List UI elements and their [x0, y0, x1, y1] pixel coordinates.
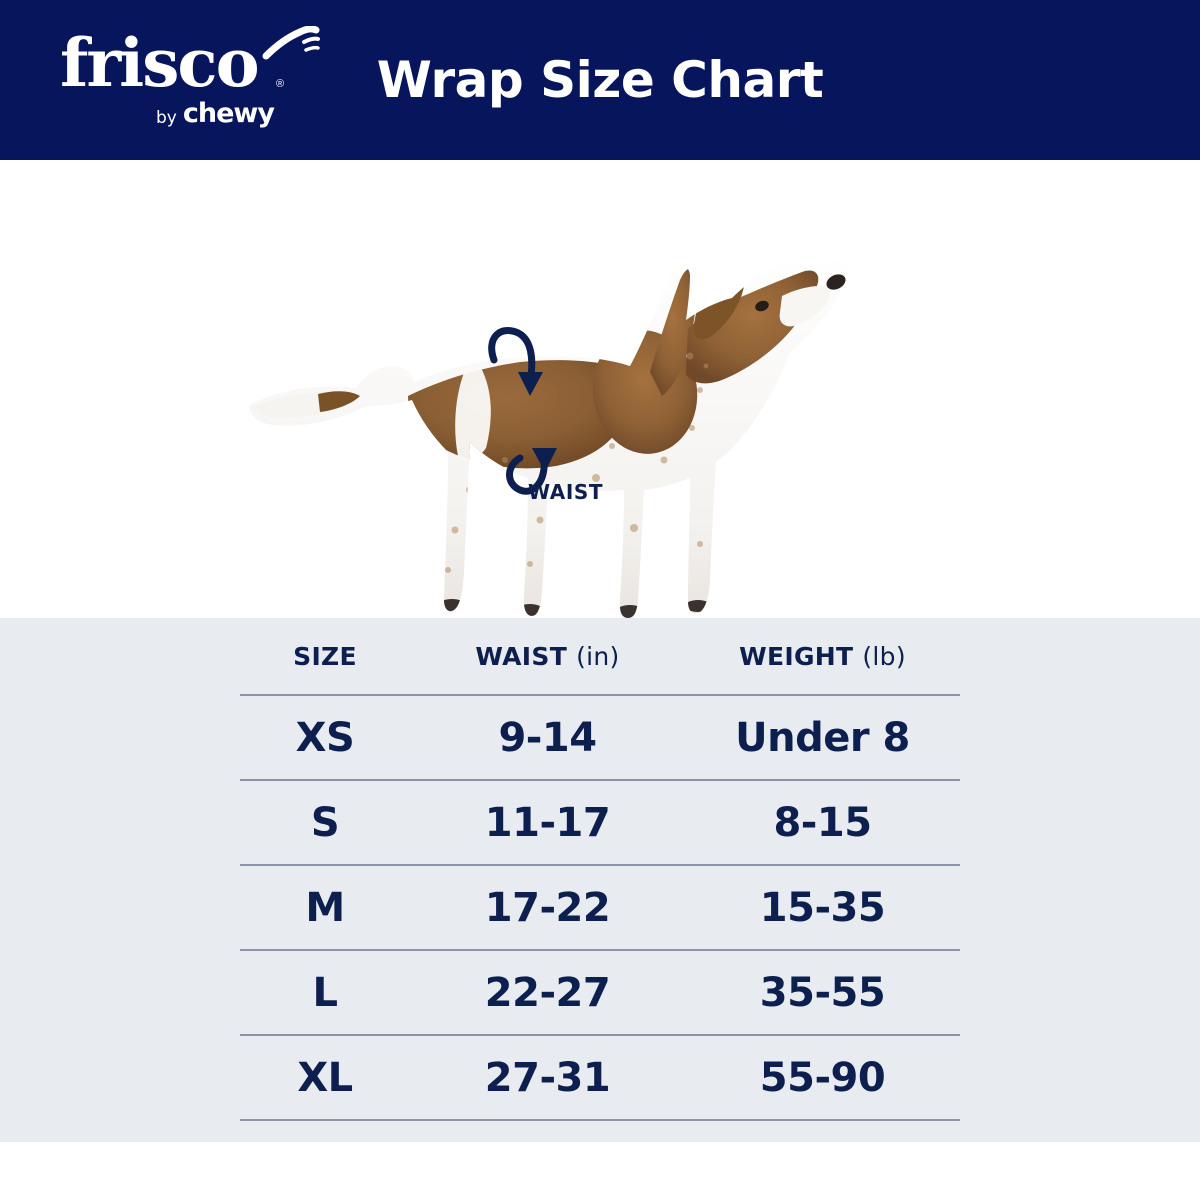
page-title: Wrap Size Chart: [0, 0, 1200, 160]
column-header-waist-label: WAIST: [475, 642, 567, 671]
column-header-weight: WEIGHT (lb): [685, 642, 960, 671]
size-table-area: SIZE WAIST (in) WEIGHT (lb) XS 9-14 Unde…: [0, 618, 1200, 1142]
cell-waist: 9-14: [410, 715, 685, 761]
table-row: XS 9-14 Under 8: [240, 694, 960, 779]
waist-annotation-label: WAIST: [528, 480, 603, 504]
cell-size: XS: [240, 715, 410, 761]
column-header-weight-label: WEIGHT: [739, 642, 853, 671]
column-header-weight-unit: (lb): [862, 642, 906, 671]
column-header-size: SIZE: [240, 642, 410, 671]
cell-weight: 8-15: [685, 800, 960, 846]
table-row: L 22-27 35-55: [240, 949, 960, 1034]
cell-weight: 55-90: [685, 1055, 960, 1101]
table-header-row: SIZE WAIST (in) WEIGHT (lb): [240, 618, 960, 694]
column-header-size-label: SIZE: [293, 642, 357, 671]
cell-weight: 35-55: [685, 970, 960, 1016]
table-row: S 11-17 8-15: [240, 779, 960, 864]
dog-photo: [0, 160, 1200, 618]
illustration-area: WAIST: [0, 160, 1200, 618]
column-header-waist-unit: (in): [576, 642, 620, 671]
cell-size: M: [240, 885, 410, 931]
page-header: frisco ® by chewy Wrap Size Chart: [0, 0, 1200, 160]
table-row: M 17-22 15-35: [240, 864, 960, 949]
footer-spacer: [0, 1142, 1200, 1200]
table-row: XL 27-31 55-90: [240, 1034, 960, 1119]
size-chart-page: frisco ® by chewy Wrap Size Chart: [0, 0, 1200, 1200]
cell-weight: Under 8: [685, 715, 960, 761]
size-table: SIZE WAIST (in) WEIGHT (lb) XS 9-14 Unde…: [240, 618, 960, 1121]
cell-waist: 17-22: [410, 885, 685, 931]
cell-size: S: [240, 800, 410, 846]
cell-weight: 15-35: [685, 885, 960, 931]
cell-size: L: [240, 970, 410, 1016]
cell-waist: 22-27: [410, 970, 685, 1016]
cell-size: XL: [240, 1055, 410, 1101]
column-header-waist: WAIST (in): [410, 642, 685, 671]
cell-waist: 11-17: [410, 800, 685, 846]
cell-waist: 27-31: [410, 1055, 685, 1101]
table-bottom-rule: [240, 1119, 960, 1121]
